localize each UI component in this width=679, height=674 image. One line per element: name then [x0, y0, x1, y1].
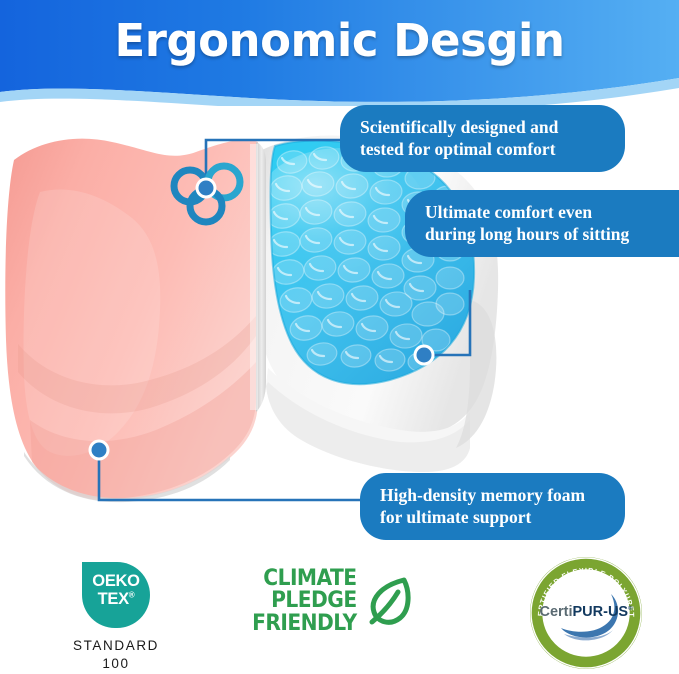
certipur-us-badge: CONTAINS CERTIFIED FLEXIBLE POLYURETHANE… [527, 554, 645, 672]
oeko-tex-icon: OEKO TEX® [82, 562, 150, 628]
leaf-icon [364, 570, 418, 634]
callout-foam: High-density memory foam for ultimate su… [360, 473, 625, 540]
oeko-tex-badge: OEKO TEX® STANDARD 100 [36, 562, 196, 673]
certification-badges: OEKO TEX® STANDARD 100 CLIMATE PLEDGE FR… [0, 552, 679, 674]
cpf-line3: FRIENDLY [252, 613, 357, 635]
callout-foam-line1: High-density memory foam [380, 484, 605, 506]
header-banner: Ergonomic Desgin [0, 0, 679, 106]
climate-pledge-friendly-badge: CLIMATE PLEDGE FRIENDLY [243, 568, 455, 635]
oeko-standard-line1: STANDARD [36, 637, 196, 655]
cpf-line2: PLEDGE [252, 590, 357, 612]
product-infographic: Ergonomic Desgin [0, 0, 679, 674]
memory-foam-layer [5, 139, 266, 503]
certipur-wordmark: CertiPUR-US® [539, 604, 633, 620]
callout-foam-line2: for ultimate support [380, 506, 605, 528]
cpf-line1: CLIMATE [252, 568, 357, 590]
callout-comfort-line1: Ultimate comfort even [425, 201, 659, 223]
callout-comfort: Ultimate comfort even during long hours … [405, 190, 679, 257]
oeko-line2: TEX [98, 590, 129, 608]
oeko-line1: OEKO [82, 573, 150, 591]
page-title: Ergonomic Desgin [0, 14, 679, 67]
oeko-registered: ® [129, 590, 135, 599]
callout-comfort-line2: during long hours of sitting [425, 223, 659, 245]
oeko-standard-line2: 100 [36, 655, 196, 673]
climate-pledge-wordmark: CLIMATE PLEDGE FRIENDLY [252, 568, 357, 635]
oeko-standard-text: STANDARD 100 [36, 637, 196, 673]
certipur-seal: CONTAINS CERTIFIED FLEXIBLE POLYURETHANE… [527, 554, 645, 672]
callout-science-line1: Scientifically designed and [360, 116, 605, 138]
callout-science-line2: tested for optimal comfort [360, 138, 605, 160]
callout-science: Scientifically designed and tested for o… [340, 105, 625, 172]
